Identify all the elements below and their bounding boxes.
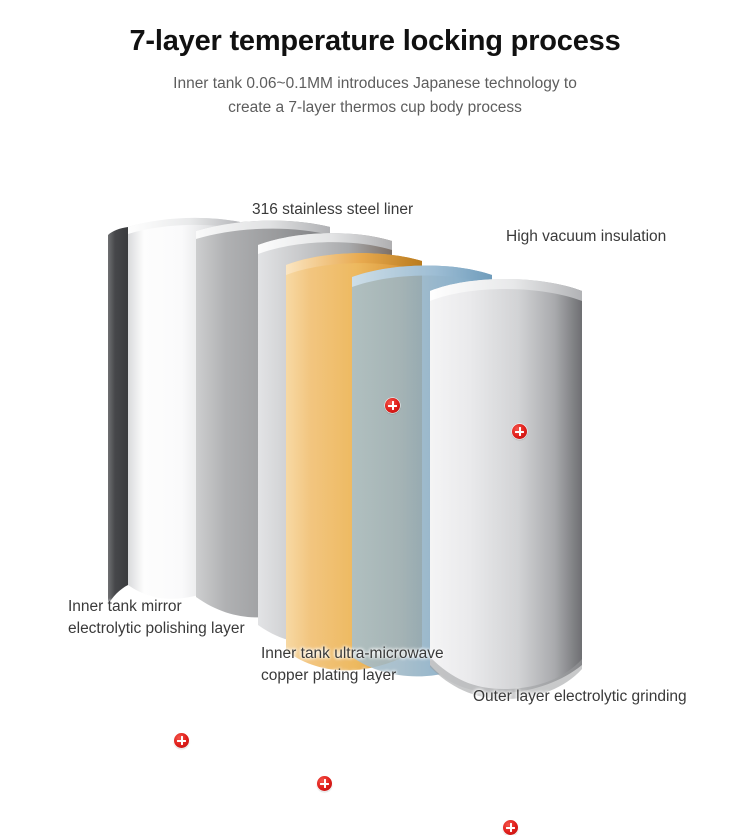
marker-copper-plating[interactable] [317,776,332,791]
layer-1-dark-edge [108,227,128,605]
subtitle-line-2: create a 7-layer thermos cup body proces… [0,96,750,120]
page-title: 7-layer temperature locking process [0,26,750,58]
label-copper-plating: Inner tank ultra-microwave copper platin… [261,643,444,687]
marker-mirror-polishing[interactable] [174,733,189,748]
marker-outer-grinding[interactable] [503,820,518,835]
label-copper-line-1: Inner tank ultra-microwave [261,643,444,665]
page-header: 7-layer temperature locking process Inne… [0,0,750,120]
marker-stainless-liner[interactable] [385,398,400,413]
label-high-vacuum: High vacuum insulation [506,226,666,248]
label-mirror-polishing: Inner tank mirror electrolytic polishing… [68,596,245,640]
page-subtitle: Inner tank 0.06~0.1MM introduces Japanes… [0,72,750,120]
label-copper-line-2: copper plating layer [261,665,444,687]
marker-high-vacuum[interactable] [512,424,527,439]
label-mirror-line-2: electrolytic polishing layer [68,618,245,640]
subtitle-line-1: Inner tank 0.06~0.1MM introduces Japanes… [0,72,750,96]
layer-7-outer-grinding [430,279,582,699]
label-mirror-line-1: Inner tank mirror [68,596,245,618]
label-outer-grinding: Outer layer electrolytic grinding [473,686,687,708]
label-stainless-liner: 316 stainless steel liner [252,199,413,221]
